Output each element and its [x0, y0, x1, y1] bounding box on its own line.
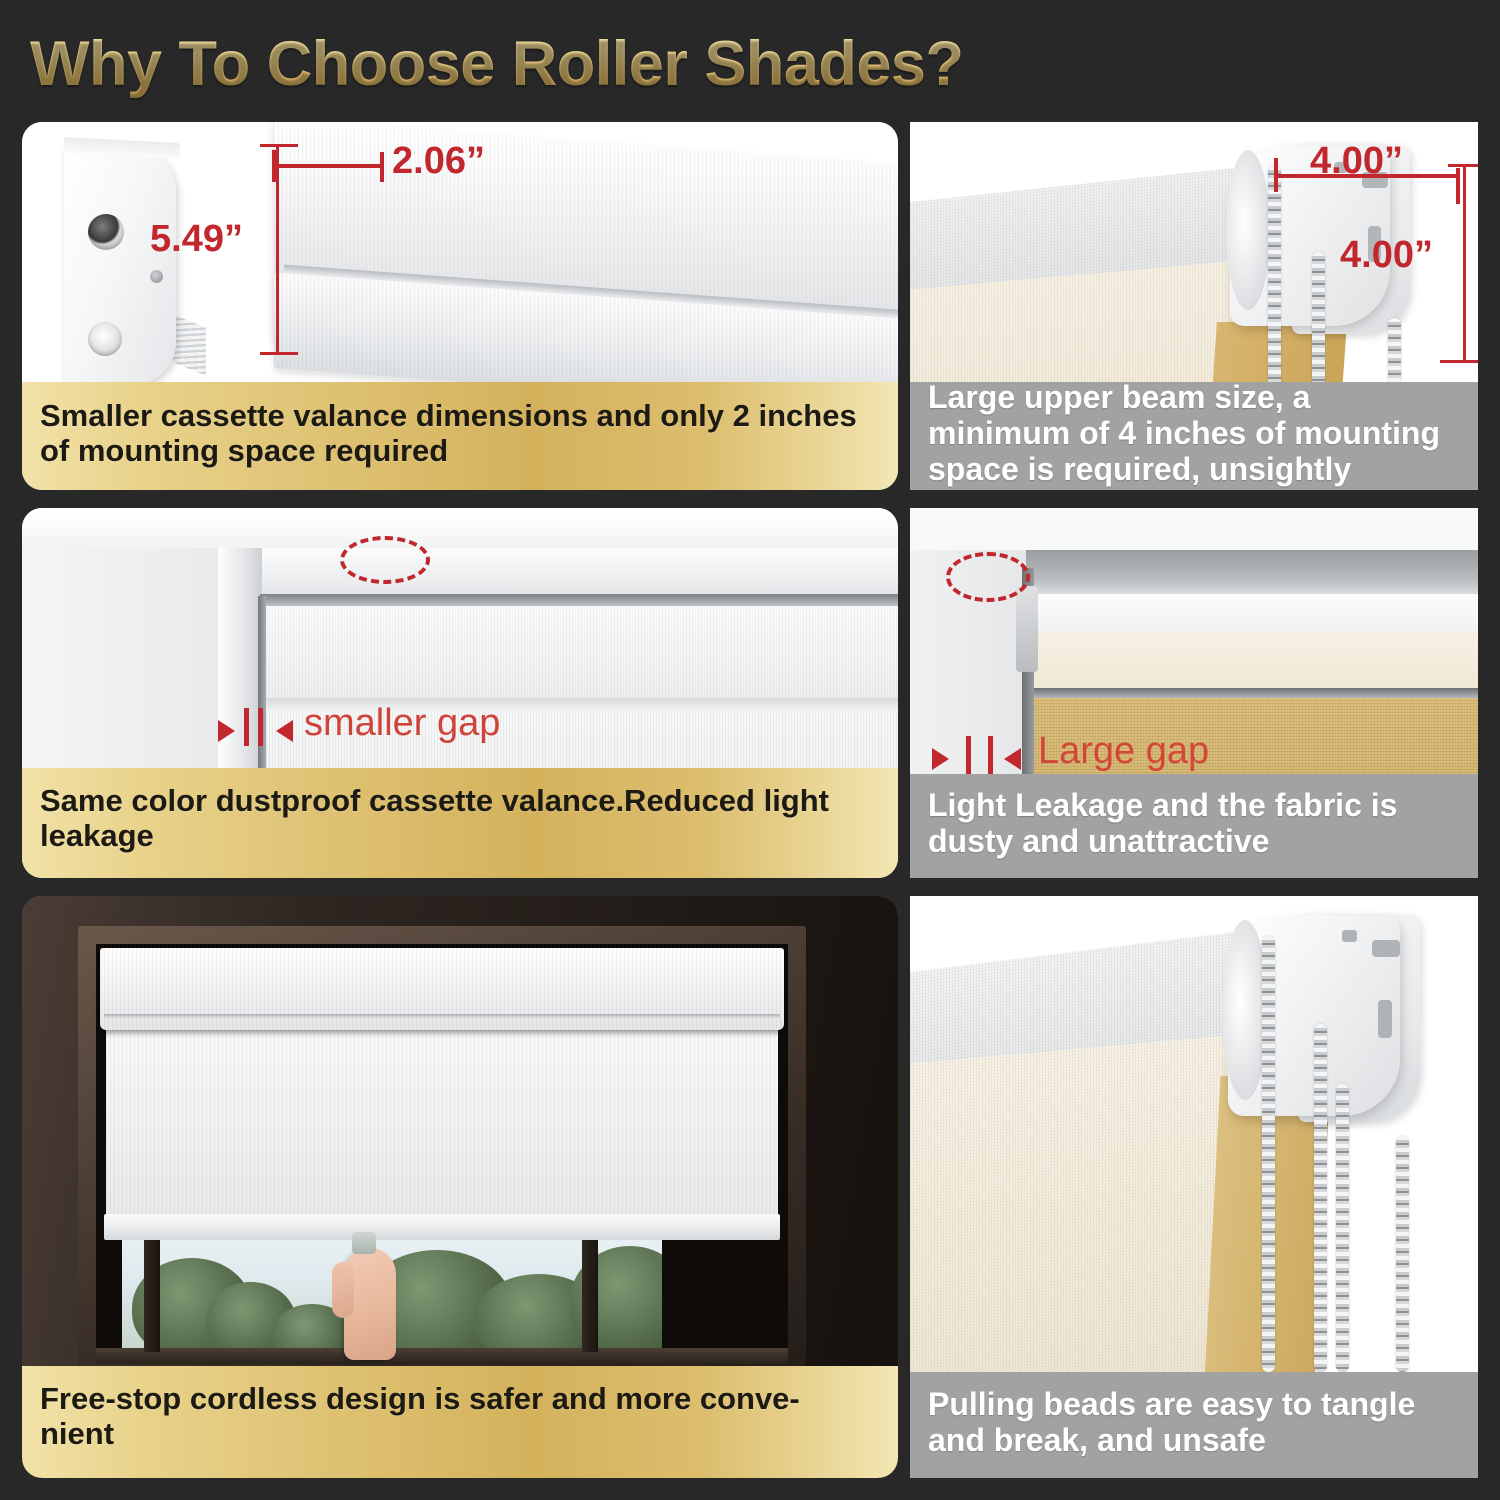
caption-free-stop-cordless: Free-stop cordless design is safer and m… [22, 1366, 898, 1478]
caption-pulling-beads: Pulling beads are easy to tangle and bre… [910, 1372, 1478, 1478]
caption-smaller-cassette-valance: Smaller cassette valance dimensions and … [22, 382, 898, 490]
gap-bar [988, 736, 993, 774]
panel-large-upper-beam: 4.00” 4.00” Large upper beam size, a min… [910, 122, 1478, 490]
bead-chain [1396, 1136, 1409, 1372]
caption-light-leakage: Light Leakage and the fabric is dusty an… [910, 774, 1478, 878]
bead-chain [1268, 166, 1281, 406]
dim-width-label: 4.00” [1310, 140, 1403, 183]
dim-height-label: 4.00” [1340, 234, 1433, 277]
page-title: Why To Choose Roller Shades? [30, 28, 963, 100]
gap-arrow-right-icon [276, 720, 293, 742]
dim-height-tick-top [260, 144, 298, 147]
panel-dustproof-cassette-valance: smaller gap Same color dustproof cassett… [22, 508, 898, 878]
dim-height-tick-bottom [260, 352, 298, 355]
caption-large-upper-beam: Large upper beam size, a minimum of 4 in… [910, 382, 1478, 490]
caption-dustproof-cassette-valance: Same color dustproof cassette valance.Re… [22, 768, 898, 878]
gap-highlight-ellipse [340, 536, 430, 584]
gap-callout-label: Large gap [1038, 730, 1209, 773]
caption-text: Pulling beads are easy to tangle and bre… [928, 1387, 1460, 1459]
bead-chain [1262, 936, 1275, 1372]
dim-width-label: 2.06” [392, 140, 485, 183]
caption-text: Light Leakage and the fabric is dusty an… [928, 788, 1460, 860]
caption-text: Large upper beam size, a minimum of 4 in… [928, 380, 1460, 487]
gap-arrow-left-icon [218, 720, 235, 742]
dim-width-tick-right [380, 152, 384, 182]
dim-height-tick-bottom [1440, 360, 1478, 363]
bead-chain [1336, 1084, 1349, 1372]
dim-height-tick-top [1448, 164, 1478, 167]
page-header: Why To Choose Roller Shades? [30, 18, 1470, 110]
caption-text: Same color dustproof cassette valance.Re… [40, 784, 880, 853]
gap-arrow-right-icon [1004, 748, 1021, 770]
gap-bar [244, 708, 249, 746]
caption-text: Smaller cassette valance dimensions and … [40, 399, 880, 468]
panel-free-stop-cordless: Free-stop cordless design is safer and m… [22, 896, 898, 1478]
gap-highlight-ellipse [946, 552, 1030, 602]
dim-width-tick-left [1274, 158, 1278, 192]
bead-chain [1314, 1024, 1327, 1372]
gap-callout-label: smaller gap [304, 702, 500, 745]
panel-light-leakage: Large gap Light Leakage and the fabric i… [910, 508, 1478, 878]
panel-smaller-cassette-valance: 2.06” 5.49” Smaller cassette valance dim… [22, 122, 898, 490]
dim-height-label: 5.49” [150, 218, 243, 261]
panel-pulling-beads: Pulling beads are easy to tangle and bre… [910, 896, 1478, 1478]
dim-width-tick-right [1456, 168, 1460, 204]
dim-width-line [274, 164, 384, 168]
gap-bar [966, 736, 971, 774]
gap-bar [258, 708, 263, 746]
gap-arrow-left-icon [932, 748, 949, 770]
dim-height-line [1463, 164, 1466, 362]
caption-text: Free-stop cordless design is safer and m… [40, 1382, 880, 1451]
dim-height-line [276, 144, 279, 354]
